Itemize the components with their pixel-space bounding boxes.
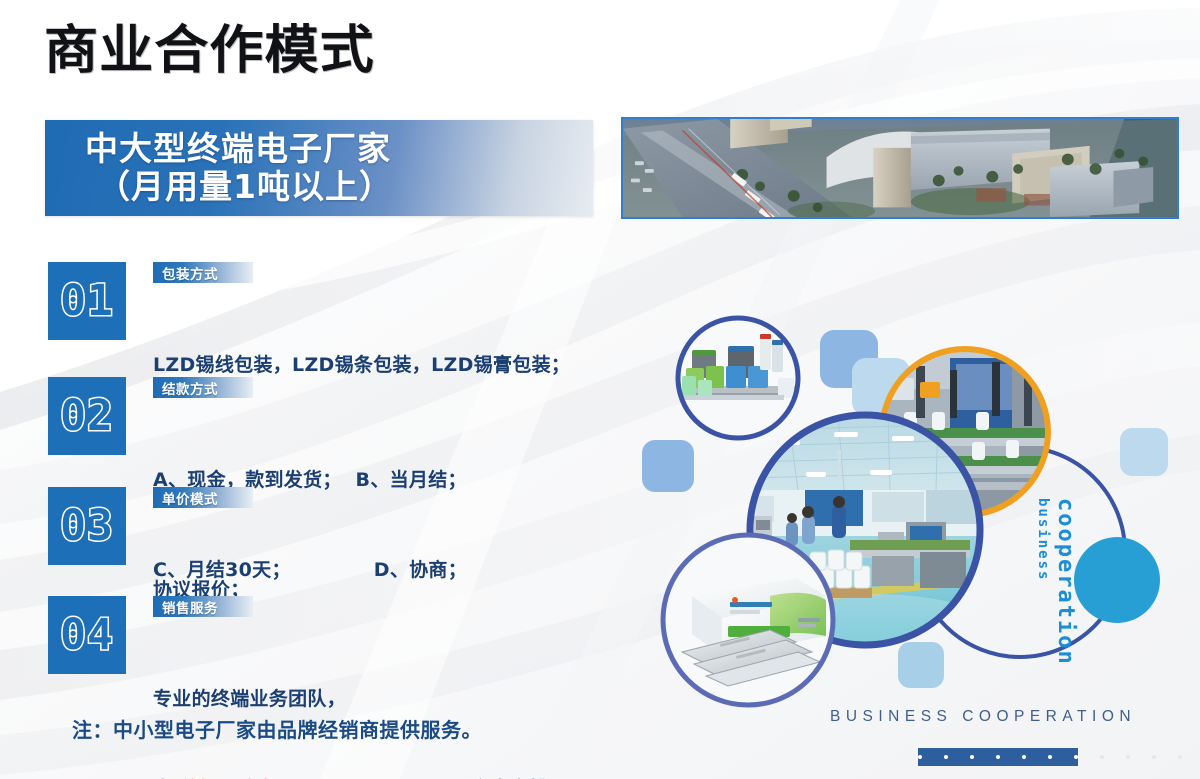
decor-square bbox=[898, 642, 944, 688]
decor-square bbox=[1120, 428, 1168, 476]
item-body-line-emphasis: 由 总经理赖高平 13556798819 亲自安排。 bbox=[153, 774, 568, 779]
item-number-box: 04 bbox=[48, 596, 126, 674]
item-body: 专业的终端业务团队， 由 总经理赖高平 13556798819 亲自安排。 bbox=[153, 624, 568, 779]
worker bbox=[832, 496, 846, 538]
poster-canvas: 商业合作模式 中大型终端电子厂家 （月用量1吨以上） bbox=[0, 0, 1200, 779]
item-number-box: 01 bbox=[48, 262, 126, 340]
item-number: 04 bbox=[60, 614, 114, 657]
item-number: 02 bbox=[60, 395, 114, 438]
vertical-text-cooperation: cooperation bbox=[1053, 498, 1078, 666]
item-tag-label: 单价模式 bbox=[153, 488, 228, 508]
footer-note: 注：中小型电子厂家由品牌经销商提供服务。 bbox=[72, 714, 482, 743]
solder-bar-circle bbox=[663, 535, 833, 705]
item-number: 01 bbox=[60, 280, 114, 323]
item-tag: 销售服务 bbox=[153, 596, 253, 617]
item-number: 03 bbox=[60, 505, 114, 548]
decor-square bbox=[642, 440, 694, 492]
business-cooperation-caption: BUSINESS COOPERATION bbox=[830, 708, 1136, 726]
decor-dot-large bbox=[1074, 537, 1160, 623]
item-body-line: 专业的终端业务团队， bbox=[153, 684, 568, 714]
item-number-box: 03 bbox=[48, 487, 126, 565]
worker bbox=[802, 506, 815, 544]
worker bbox=[786, 513, 798, 546]
decor-dot-row bbox=[918, 748, 1200, 766]
item-tag-label: 销售服务 bbox=[153, 597, 228, 617]
campus-aerial-photo bbox=[621, 117, 1179, 219]
item-tag: 包装方式 bbox=[153, 262, 253, 283]
item-tag: 结款方式 bbox=[153, 377, 253, 398]
page-title: 商业合作模式 bbox=[44, 22, 375, 80]
item-tag: 单价模式 bbox=[153, 487, 253, 508]
item-tag-label: 包装方式 bbox=[153, 263, 228, 283]
vertical-text-business: business bbox=[1035, 498, 1051, 581]
header-banner-line1: 中大型终端电子厂家 bbox=[85, 130, 391, 168]
item-number-box: 02 bbox=[48, 377, 126, 455]
item-tag-label: 结款方式 bbox=[153, 378, 228, 398]
header-banner-line2: （月用量1吨以上） bbox=[97, 168, 393, 206]
products-circle-top bbox=[678, 318, 798, 438]
header-banner: 中大型终端电子厂家 （月用量1吨以上） bbox=[45, 120, 593, 216]
item-body-line: LZD锡线包装，LZD锡条包装，LZD锡膏包装； bbox=[153, 350, 570, 380]
